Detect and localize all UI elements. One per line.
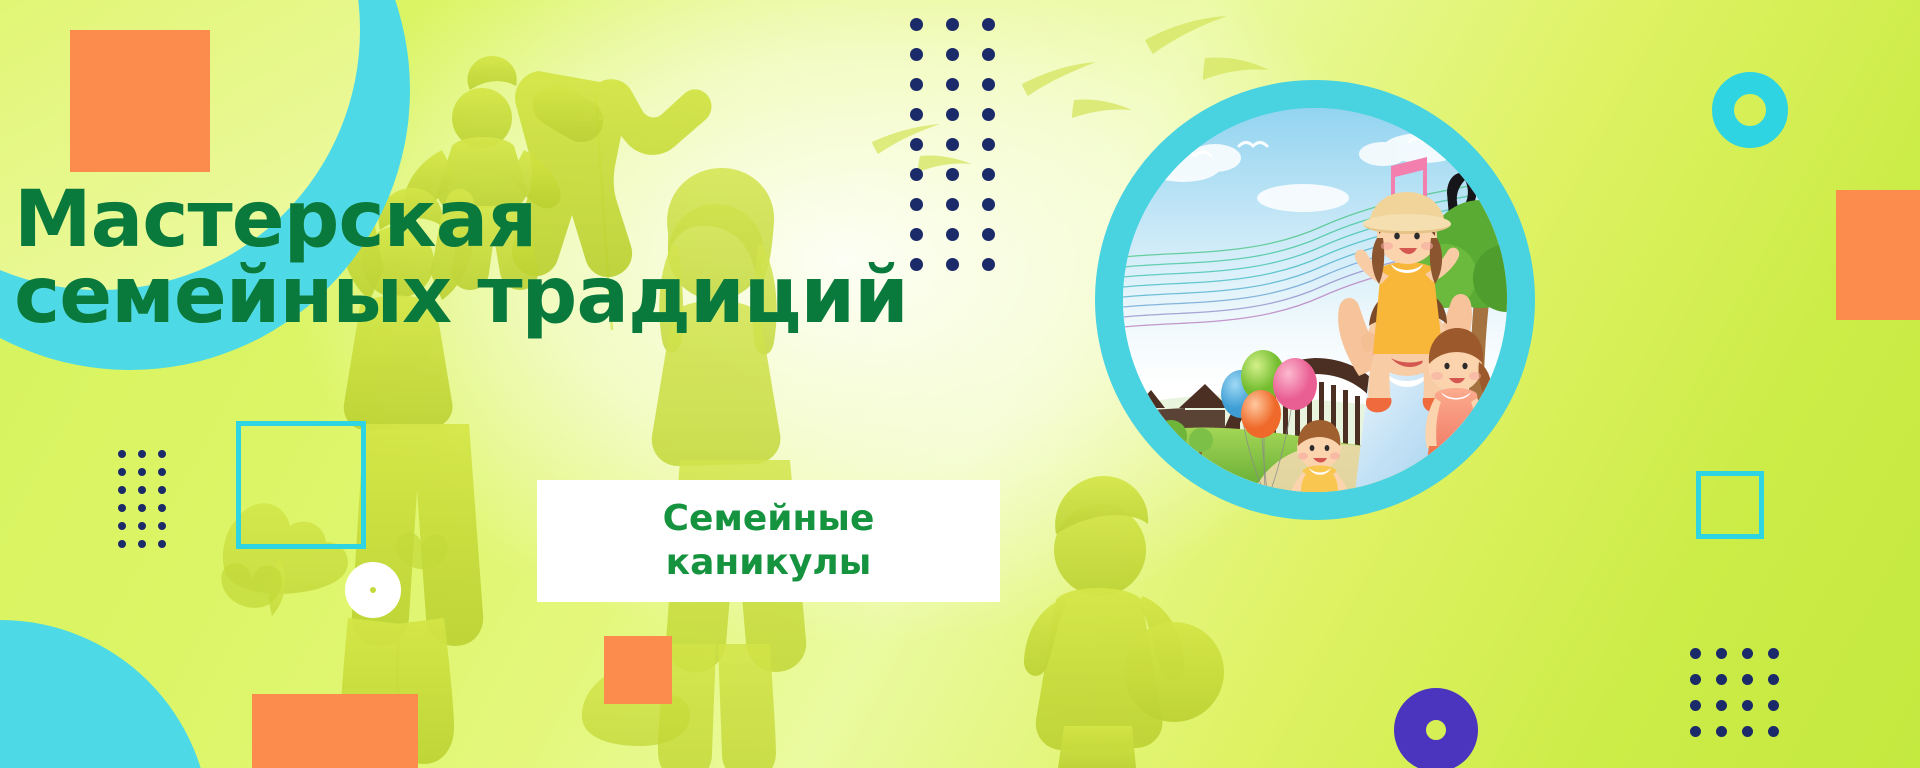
subtitle-line-2: каникулы bbox=[666, 541, 872, 585]
white-ring-bottom-left bbox=[345, 562, 401, 618]
teal-outline-square-left bbox=[236, 421, 366, 549]
teal-outline-square-right bbox=[1696, 471, 1764, 539]
orange-square-right bbox=[1836, 190, 1920, 320]
family-vacation-illustration bbox=[1123, 108, 1507, 492]
navy-dot-grid-bottom-right bbox=[1690, 648, 1794, 752]
orange-square-top-left bbox=[70, 30, 210, 172]
orange-square-bottom-center bbox=[604, 636, 672, 704]
family-photo-ring bbox=[1095, 80, 1535, 520]
page-title: Мастерская семейных традиций bbox=[14, 182, 1094, 335]
navy-dot-grid-left bbox=[118, 450, 178, 558]
subtitle-badge: Семейные каникулы bbox=[537, 480, 1000, 602]
headline-line-2: семейных традиций bbox=[14, 258, 1094, 334]
orange-square-bottom-left bbox=[252, 694, 418, 768]
banner-root: Мастерская семейных традиций Семейные ка… bbox=[0, 0, 1920, 768]
teal-ring-top-right bbox=[1712, 72, 1788, 148]
subtitle-line-1: Семейные bbox=[663, 497, 875, 541]
headline-line-1: Мастерская bbox=[14, 182, 1094, 258]
purple-ring-bottom bbox=[1394, 688, 1478, 768]
